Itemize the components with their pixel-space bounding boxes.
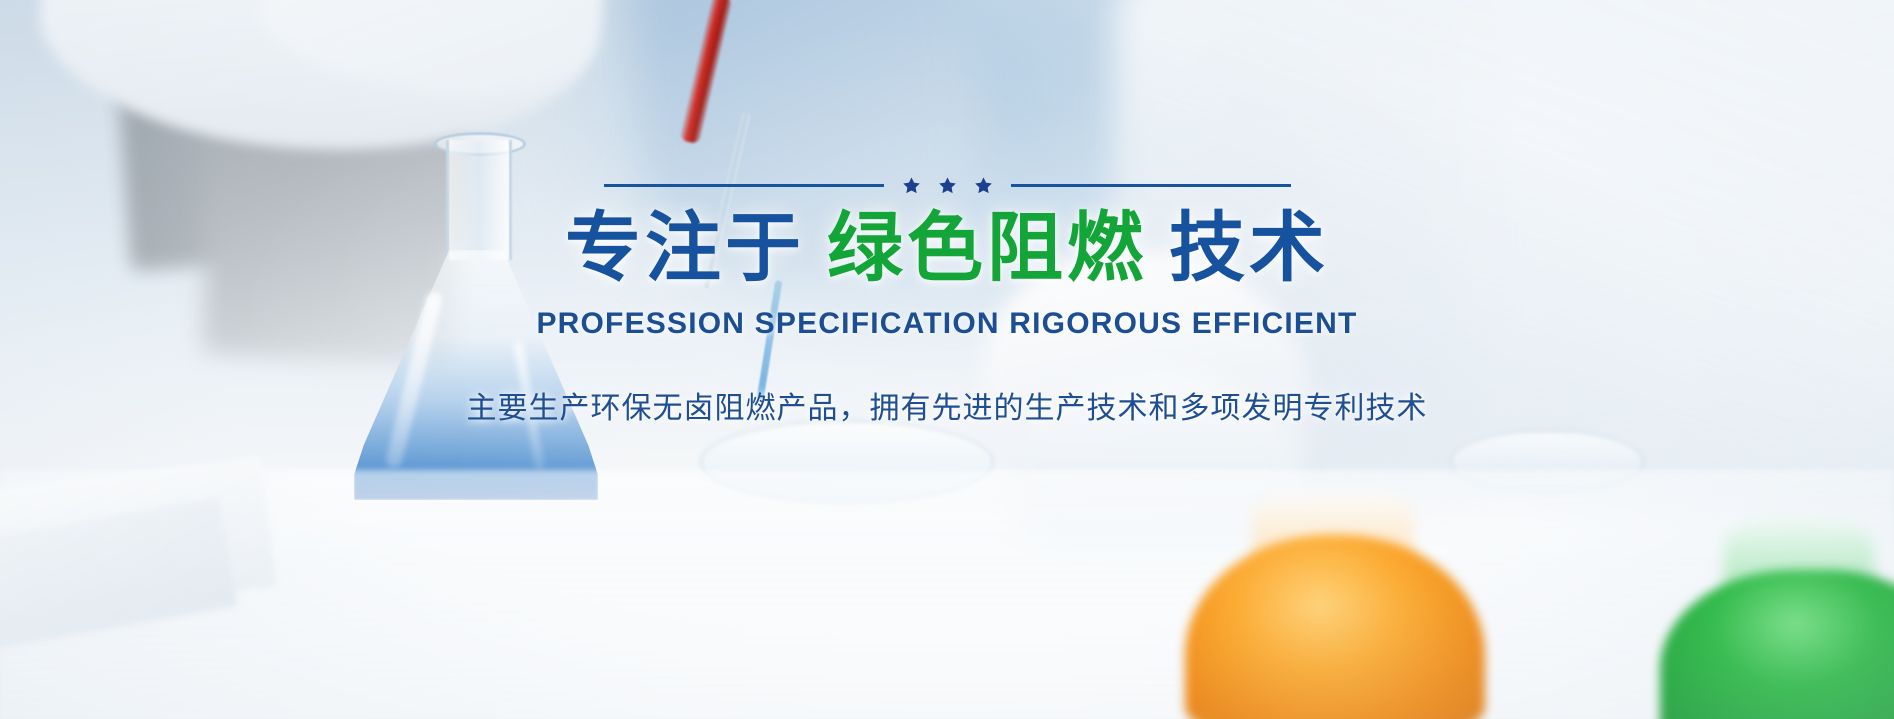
headline-part-3: 技术 bbox=[1169, 206, 1329, 291]
headline-part-2: 绿色阻燃 bbox=[827, 206, 1147, 291]
banner-content: 专注于绿色阻燃技术 PROFESSION SPECIFICATION RIGOR… bbox=[0, 0, 1894, 719]
star-icon bbox=[974, 176, 993, 195]
star-icon bbox=[902, 176, 921, 195]
banner-description: 主要生产环保无卤阻燃产品，拥有先进的生产技术和多项发明专利技术 bbox=[467, 383, 1428, 427]
star-icon bbox=[938, 176, 957, 195]
hero-banner: 专注于绿色阻燃技术 PROFESSION SPECIFICATION RIGOR… bbox=[0, 0, 1894, 719]
headline-subtitle-english: PROFESSION SPECIFICATION RIGOROUS EFFICI… bbox=[536, 307, 1357, 341]
headline: 专注于绿色阻燃技术 bbox=[565, 211, 1329, 287]
divider-rule-left bbox=[604, 184, 884, 187]
star-group bbox=[902, 176, 993, 195]
decorative-divider bbox=[604, 176, 1291, 195]
divider-rule-right bbox=[1011, 184, 1291, 187]
headline-part-1: 专注于 bbox=[565, 206, 805, 291]
